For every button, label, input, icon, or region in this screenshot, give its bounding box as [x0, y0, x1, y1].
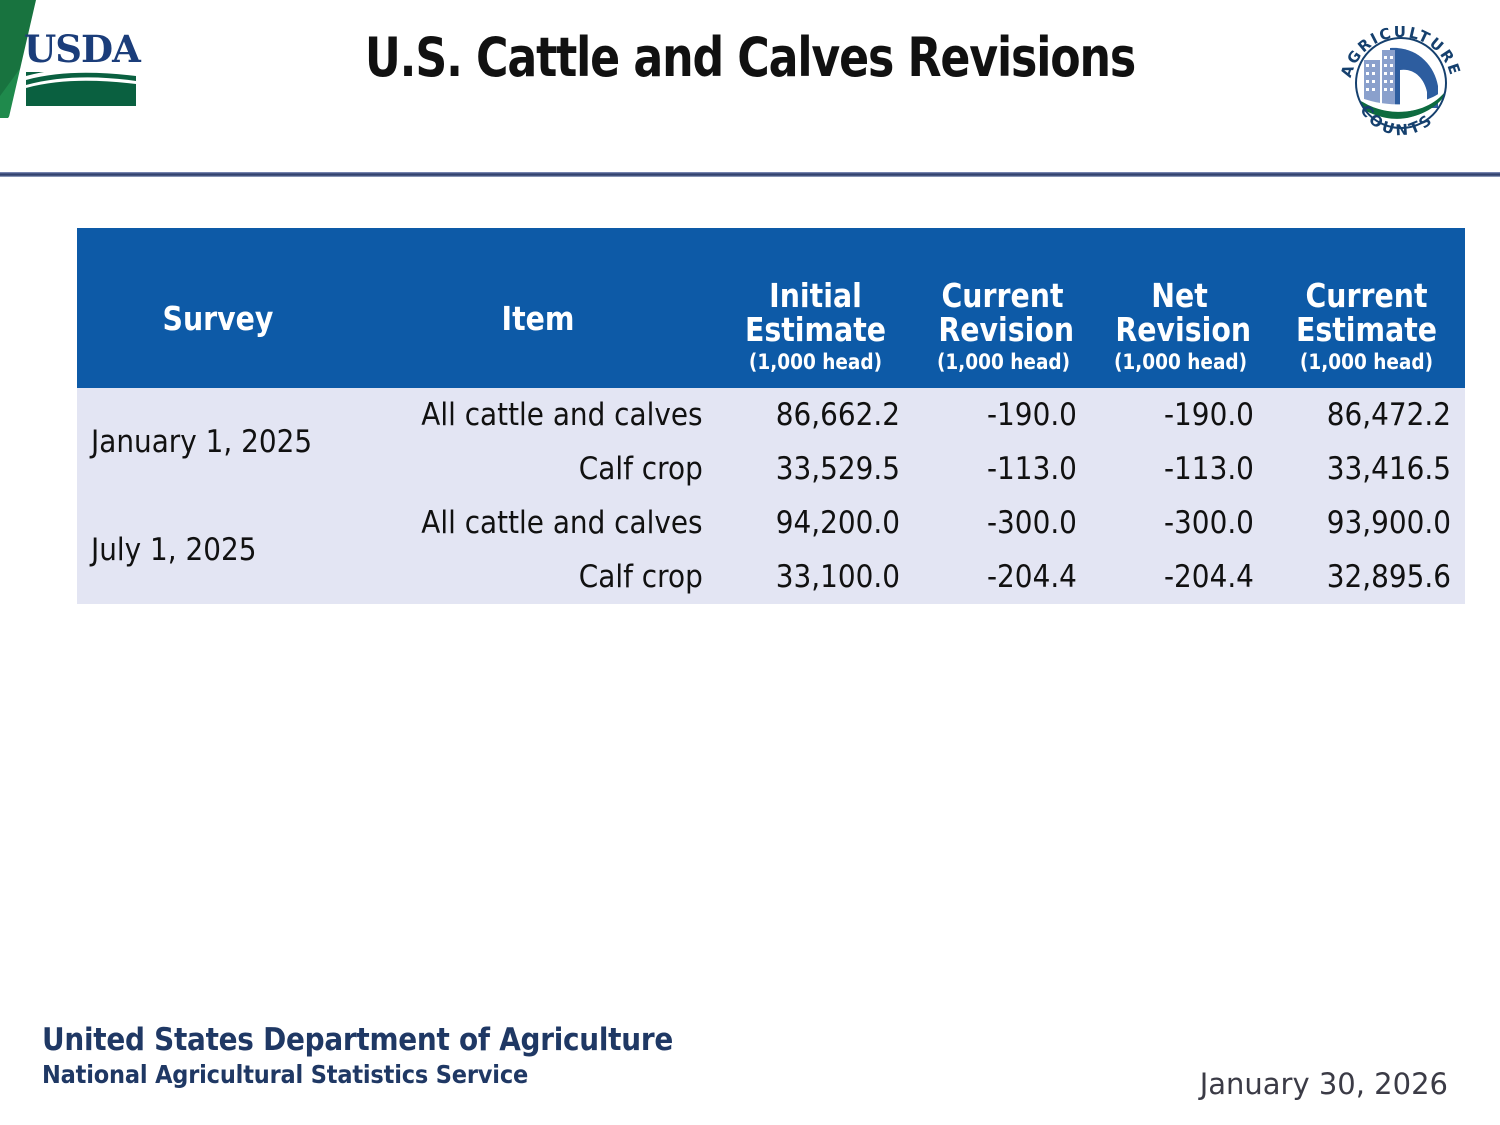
- value-current-revision: -113.0: [914, 442, 1091, 496]
- survey-label-january-text: January 1, 2025: [91, 424, 312, 460]
- value-current-estimate-text: 93,900.0: [1327, 505, 1451, 541]
- page-title: U.S. Cattle and Calves Revisions: [283, 26, 1218, 89]
- slide-header: USDA U.S. Cattle and Calves Revisions: [0, 0, 1500, 172]
- survey-label-july: July 1, 2025: [77, 496, 359, 604]
- survey-label-january: January 1, 2025: [77, 388, 359, 496]
- column-header-survey: Survey: [77, 228, 359, 388]
- value-initial-estimate-text: 33,100.0: [776, 559, 900, 595]
- slide-date: January 30, 2026: [1200, 1067, 1448, 1101]
- value-initial-estimate-text: 94,200.0: [776, 505, 900, 541]
- svg-text:USDA: USDA: [24, 28, 142, 71]
- column-header-net-revision-unit: (1,000 head): [1114, 352, 1245, 374]
- value-net-revision: -204.4: [1091, 550, 1268, 604]
- column-header-current-revision-line2: Revision: [938, 313, 1066, 347]
- column-header-current-estimate-line1: Current: [1294, 279, 1439, 313]
- value-current-revision-text: -204.4: [987, 559, 1077, 595]
- value-current-estimate-text: 32,895.6: [1327, 559, 1451, 595]
- value-net-revision: -190.0: [1091, 388, 1268, 442]
- value-current-revision-text: -190.0: [987, 397, 1077, 433]
- footer-agency-name: National Agricultural Statistics Service: [42, 1060, 673, 1089]
- value-initial-estimate-text: 33,529.5: [776, 451, 900, 487]
- column-header-initial-estimate-line1: Initial: [743, 279, 888, 313]
- agriculture-counts-logo: AGRICULTURE COUNTS: [1330, 12, 1472, 154]
- item-label: Calf crop: [359, 550, 717, 604]
- column-header-current-revision-unit: (1,000 head): [937, 352, 1068, 374]
- value-net-revision-text: -113.0: [1164, 451, 1254, 487]
- value-net-revision: -300.0: [1091, 496, 1268, 550]
- survey-label-july-text: July 1, 2025: [91, 532, 257, 568]
- column-header-net-revision: Net Revision (1,000 head): [1091, 228, 1268, 388]
- item-label-text: All cattle and calves: [422, 397, 703, 433]
- item-label: All cattle and calves: [359, 496, 717, 550]
- column-header-initial-estimate: Initial Estimate (1,000 head): [717, 228, 914, 388]
- footer-department-name: United States Department of Agriculture: [42, 1022, 673, 1058]
- item-label: All cattle and calves: [359, 388, 717, 442]
- value-current-estimate: 93,900.0: [1268, 496, 1465, 550]
- table-header-row: Survey Item Initial Estimate (1,000 head…: [77, 228, 1465, 388]
- usda-logo: USDA: [22, 28, 142, 110]
- cattle-revisions-table: Survey Item Initial Estimate (1,000 head…: [77, 228, 1465, 604]
- item-label: Calf crop: [359, 442, 717, 496]
- column-header-current-revision: Current Revision (1,000 head): [914, 228, 1091, 388]
- value-current-revision-text: -113.0: [987, 451, 1077, 487]
- column-header-initial-estimate-unit: (1,000 head): [741, 352, 890, 374]
- value-net-revision-text: -300.0: [1164, 505, 1254, 541]
- item-label-text: Calf crop: [579, 559, 703, 595]
- column-header-net-revision-line1: Net: [1115, 279, 1243, 313]
- column-header-net-revision-line2: Revision: [1115, 313, 1243, 347]
- value-current-revision: -204.4: [914, 550, 1091, 604]
- value-current-revision-text: -300.0: [987, 505, 1077, 541]
- footer-organization: United States Department of Agriculture …: [42, 1022, 743, 1089]
- value-current-estimate-text: 33,416.5: [1327, 451, 1451, 487]
- value-initial-estimate: 86,662.2: [717, 388, 914, 442]
- column-header-current-estimate: Current Estimate (1,000 head): [1268, 228, 1465, 388]
- column-header-initial-estimate-line2: Estimate: [743, 313, 888, 347]
- value-initial-estimate-text: 86,662.2: [776, 397, 900, 433]
- value-initial-estimate: 33,529.5: [717, 442, 914, 496]
- table-row: July 1, 2025 All cattle and calves 94,20…: [77, 496, 1465, 550]
- value-net-revision: -113.0: [1091, 442, 1268, 496]
- column-header-survey-label: Survey: [109, 302, 327, 336]
- column-header-item-label: Item: [396, 302, 680, 336]
- value-current-revision: -300.0: [914, 496, 1091, 550]
- value-current-estimate: 32,895.6: [1268, 550, 1465, 604]
- value-current-estimate: 33,416.5: [1268, 442, 1465, 496]
- item-label-text: All cattle and calves: [422, 505, 703, 541]
- value-initial-estimate: 33,100.0: [717, 550, 914, 604]
- column-header-current-estimate-line2: Estimate: [1294, 313, 1439, 347]
- value-current-revision: -190.0: [914, 388, 1091, 442]
- header-divider-rule: [0, 172, 1500, 177]
- value-net-revision-text: -190.0: [1164, 397, 1254, 433]
- value-initial-estimate: 94,200.0: [717, 496, 914, 550]
- table-row: January 1, 2025 All cattle and calves 86…: [77, 388, 1465, 442]
- column-header-current-revision-line1: Current: [938, 279, 1066, 313]
- column-header-item: Item: [359, 228, 717, 388]
- value-net-revision-text: -204.4: [1164, 559, 1254, 595]
- item-label-text: Calf crop: [579, 451, 703, 487]
- column-header-current-estimate-unit: (1,000 head): [1292, 352, 1441, 374]
- value-current-estimate: 86,472.2: [1268, 388, 1465, 442]
- value-current-estimate-text: 86,472.2: [1327, 397, 1451, 433]
